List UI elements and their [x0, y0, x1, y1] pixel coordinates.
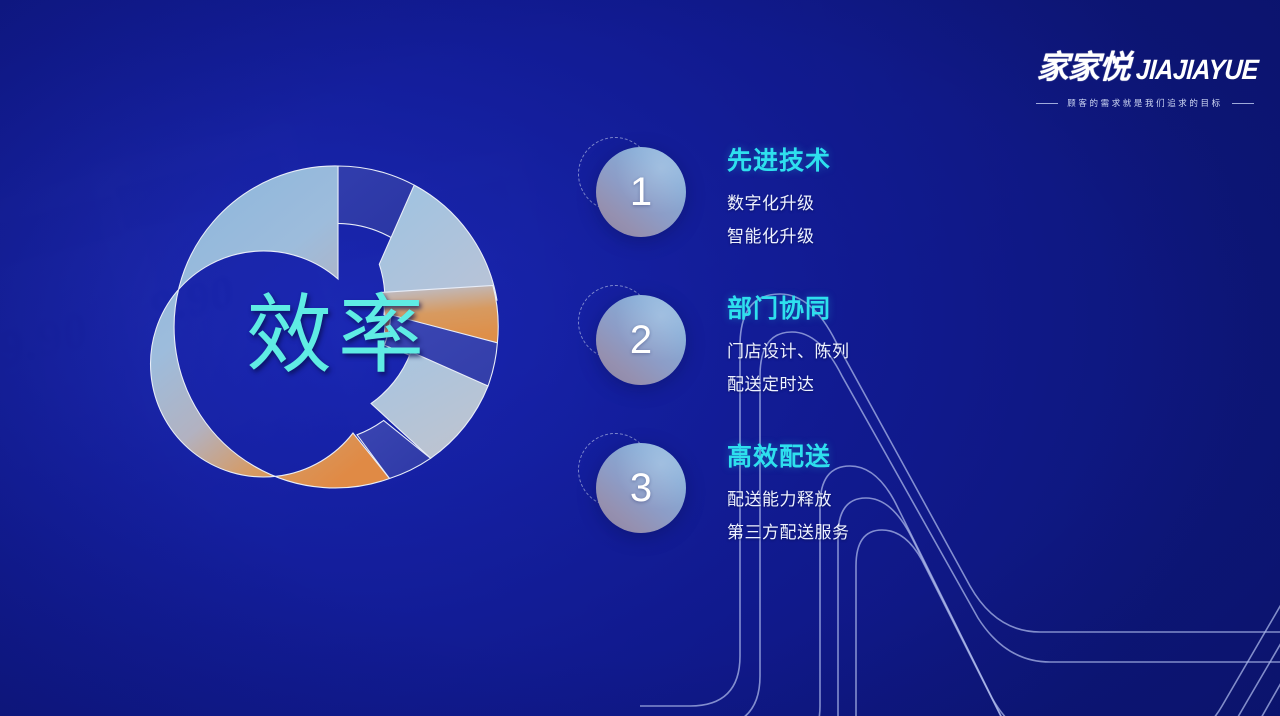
list-item[interactable]: 1 先进技术 数字化升级 智能化升级	[576, 133, 1016, 281]
tagline-dash-left	[1036, 103, 1058, 104]
list-item-title: 部门协同	[727, 289, 850, 325]
number-badge-label: 3	[596, 443, 686, 533]
donut-center-text: 效率	[246, 288, 430, 384]
list-item-title: 高效配送	[727, 437, 850, 473]
number-badge-label: 1	[596, 147, 686, 237]
number-badge-label: 2	[596, 295, 686, 385]
brand-logo: 家家悦 JIAJIAYUE 顾客的需求就是我们追求的目标	[1032, 42, 1258, 109]
list-item-line2: 第三方配送服务	[727, 516, 850, 549]
tagline-dash-right	[1232, 103, 1254, 104]
logo-tagline: 顾客的需求就是我们追求的目标	[1032, 97, 1258, 109]
list-item-line1: 门店设计、陈列	[727, 335, 850, 368]
list-item-text: 先进技术 数字化升级 智能化升级	[727, 141, 831, 253]
donut-chart: 效率	[143, 132, 533, 522]
logo-english-name: JIAJIAYUE	[1135, 54, 1259, 86]
slide-canvas: 9.90 9.90 20.98 8.90 8.90 家家悦 JIAJIAYUE …	[0, 0, 1280, 716]
logo-chinese-name: 家家悦	[1036, 42, 1131, 88]
number-badge[interactable]: 3	[596, 443, 686, 533]
list-item-line1: 配送能力释放	[727, 483, 850, 516]
list-item-text: 高效配送 配送能力释放 第三方配送服务	[727, 437, 850, 549]
list-item-line1: 数字化升级	[727, 187, 831, 220]
feature-list: 1 先进技术 数字化升级 智能化升级 2 部门协同 门店设计、陈列 配送定时达 …	[576, 133, 1016, 577]
list-item[interactable]: 2 部门协同 门店设计、陈列 配送定时达	[576, 281, 1016, 429]
donut-center-label: 效率	[143, 265, 533, 390]
number-badge[interactable]: 2	[596, 295, 686, 385]
list-item-line2: 配送定时达	[727, 368, 850, 401]
list-item-title: 先进技术	[727, 141, 831, 177]
list-item-line2: 智能化升级	[727, 220, 831, 253]
tagline-text: 顾客的需求就是我们追求的目标	[1067, 97, 1222, 109]
list-item-text: 部门协同 门店设计、陈列 配送定时达	[727, 289, 850, 401]
list-item[interactable]: 3 高效配送 配送能力释放 第三方配送服务	[576, 429, 1016, 577]
number-badge[interactable]: 1	[596, 147, 686, 237]
